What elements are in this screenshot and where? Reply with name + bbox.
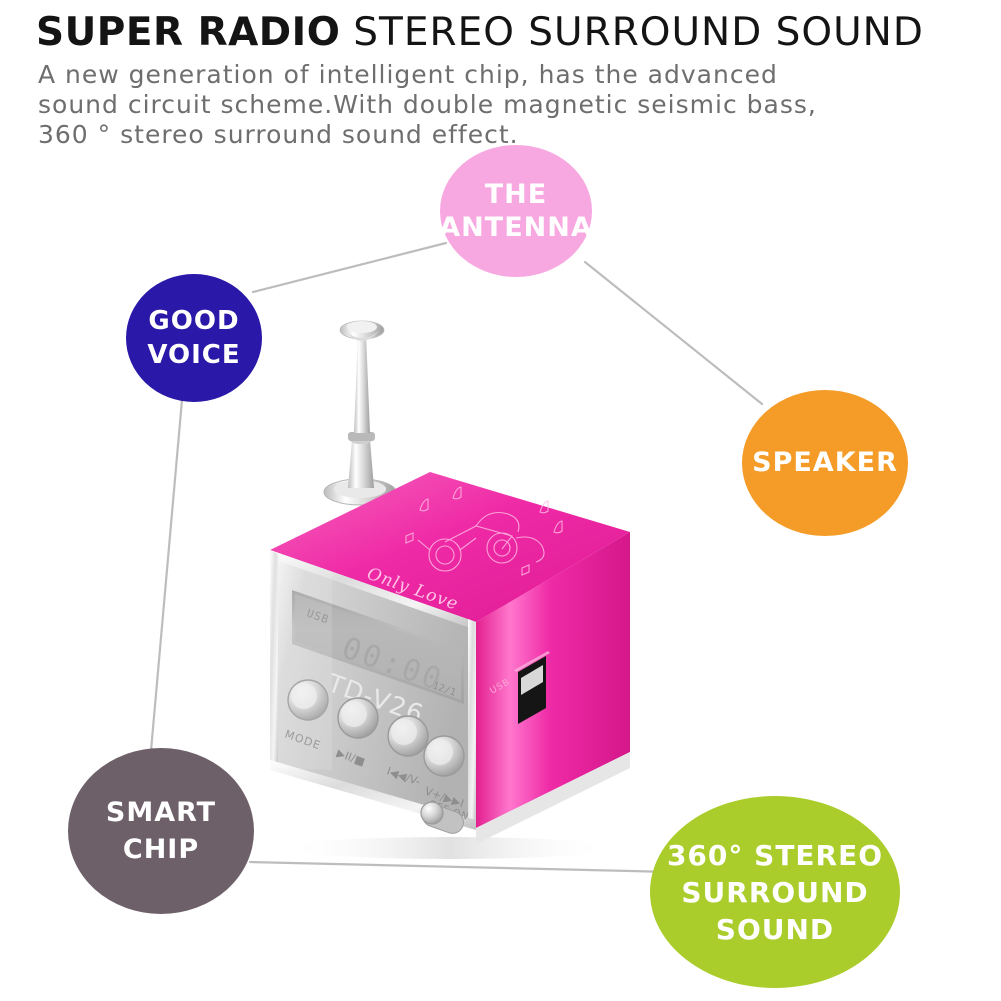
callout-speaker[interactable]: SPEAKER bbox=[742, 390, 908, 536]
callout-360-surround-sound-line-1: 360° STEREO bbox=[667, 837, 883, 874]
callout-speaker-line-1: SPEAKER bbox=[752, 448, 898, 478]
callout-the-antenna[interactable]: THE ANTENNA bbox=[440, 145, 592, 277]
callout-the-antenna-line-1: THE bbox=[485, 178, 547, 211]
antenna-icon bbox=[324, 321, 396, 505]
line-smartchip-surround bbox=[250, 862, 672, 872]
product-svg: Only Love Only Love Always, Only Now For… bbox=[240, 300, 660, 860]
line-goodvoice-smartchip bbox=[150, 400, 182, 762]
product-speaker-image: Only Love Only Love Always, Only Now For… bbox=[240, 300, 660, 860]
callout-good-voice-line-1: GOOD bbox=[148, 304, 239, 338]
product-shadow bbox=[285, 837, 615, 859]
callout-the-antenna-line-2: ANTENNA bbox=[439, 211, 592, 244]
infographic-canvas: SUPER RADIO STEREO SURROUND SOUND A new … bbox=[0, 0, 1001, 1001]
callout-smart-chip[interactable]: SMART CHIP bbox=[68, 748, 254, 914]
panel-bezel-right bbox=[468, 619, 476, 828]
callout-360-surround-sound-line-2: SURROUND bbox=[681, 874, 868, 911]
callout-smart-chip-line-2: CHIP bbox=[123, 831, 199, 868]
callout-360-surround-sound-line-3: SOUND bbox=[716, 911, 834, 948]
callout-good-voice[interactable]: GOOD VOICE bbox=[126, 274, 262, 402]
callout-good-voice-line-2: VOICE bbox=[147, 338, 240, 372]
callout-smart-chip-line-1: SMART bbox=[106, 794, 216, 831]
callout-360-surround-sound[interactable]: 360° STEREO SURROUND SOUND bbox=[650, 796, 900, 988]
panel-highlight bbox=[270, 550, 332, 770]
line-goodvoice-antenna bbox=[253, 243, 446, 292]
